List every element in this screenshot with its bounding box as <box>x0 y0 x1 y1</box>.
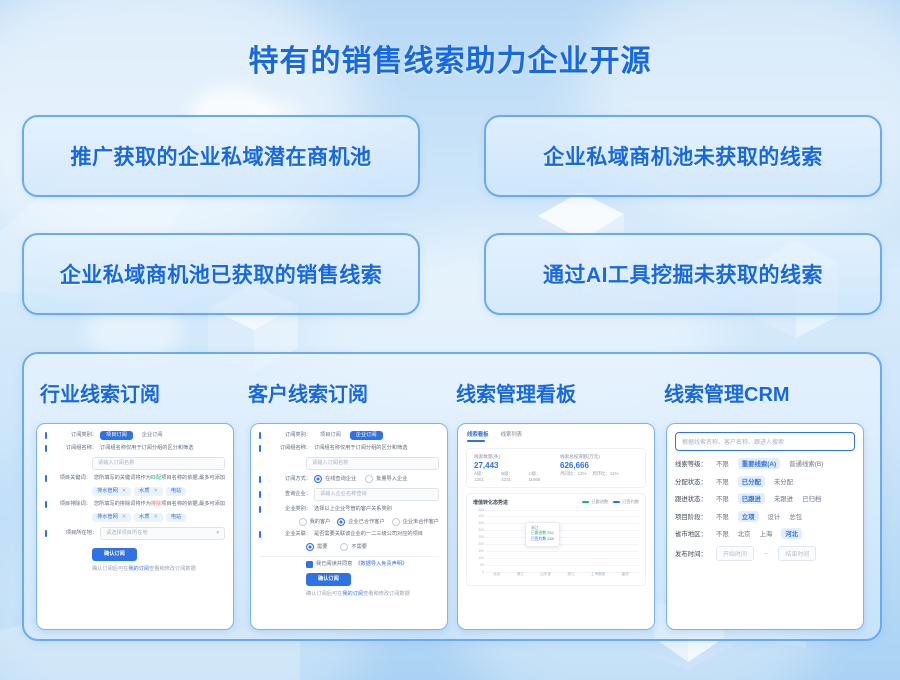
crm-filter-row: 线索等级：不限重要线索(A)普通线索(B) <box>675 458 855 469</box>
keyword-row: 项目关键词： 您所填写的关键词将作为匹配项目名称的依据,最多可添加 <box>45 475 225 482</box>
filter-option[interactable]: 不限 <box>716 512 729 521</box>
crm-filter-row: 分配状态：不限已分配未分配 <box>675 476 855 487</box>
kpi-investment: 线索总投资额(万元) 626,666 月同比：13% 周环比：11% <box>560 454 638 482</box>
feature-pill-1[interactable]: 推广获取的企业私域潜在商机池 <box>22 115 420 197</box>
x-tick-label: 浙江 <box>567 572 574 577</box>
disclaimer-link[interactable]: 《数据导入免责声明》 <box>355 561 407 568</box>
field-marker-icon <box>45 432 47 439</box>
y-tick-label: 100 <box>478 556 484 560</box>
x-tick-label: 浙江 <box>517 572 524 577</box>
chart-tooltip: 浙江 已跟进数 252 已签约数 228 <box>525 522 560 547</box>
filter-option[interactable]: 总包 <box>789 512 802 521</box>
type-option-company[interactable]: 企业订阅 <box>350 431 383 440</box>
field-hint: 是否需要关联该企业的一二三级公司对应的项目 <box>314 531 423 538</box>
filter-option[interactable]: 未跟进 <box>774 494 793 503</box>
feature-pill-4[interactable]: 通过AI工具挖掘未获取的线索 <box>484 233 882 315</box>
divider <box>259 556 439 557</box>
filter-option[interactable]: 已归档 <box>802 494 821 503</box>
group-name-input[interactable]: 请输入订阅名称 <box>306 457 439 470</box>
filter-option[interactable]: 设计 <box>768 512 781 521</box>
date-separator: － <box>763 549 769 558</box>
section-title-crm: 线索管理CRM <box>664 378 790 407</box>
x-axis: 北京浙江山东省浙江上海集团重庆 <box>485 572 637 582</box>
chart-legend: 已跟进数 已签约数 <box>582 499 639 505</box>
field-marker-icon <box>259 506 261 513</box>
tab-list[interactable]: 线索列表 <box>501 430 523 438</box>
field-marker-icon <box>259 491 261 498</box>
type-option-company[interactable]: 企业订阅 <box>136 431 169 440</box>
filter-label: 线索等级： <box>675 459 707 468</box>
screenshot-card-dashboard[interactable]: 线索看板 线索列表 线索数量(条) 27,443 A级：1201 B级：4231… <box>457 423 655 630</box>
field-marker-icon <box>259 432 261 439</box>
kpi-subs: A级：1201 B级：4231 C级：11666 <box>474 471 552 482</box>
field-marker-icon <box>259 476 261 483</box>
field-label: 查询企业： <box>267 491 311 498</box>
y-tick-label: 300 <box>478 528 484 532</box>
footer-note-row: 确认订阅后可在我的订阅查看和修改订阅数据 <box>45 566 225 573</box>
footer-note: 确认订阅后可在我的订阅查看和修改订阅数据 <box>306 591 410 598</box>
type-option-project[interactable]: 项目订阅 <box>314 431 347 440</box>
my-subscription-link[interactable]: 我的订阅 <box>128 566 149 572</box>
filter-label: 省市地区： <box>675 529 707 538</box>
my-subscription-link[interactable]: 我的订阅 <box>342 591 363 597</box>
exclude-row: 项目排除词： 您所填写的排除词将作为排除项目名称的依据,最多可添加 <box>45 501 225 508</box>
legend-item: 已签约数 <box>613 499 639 505</box>
filter-option[interactable]: 未分配 <box>774 477 793 486</box>
radio-partnered[interactable] <box>337 518 345 526</box>
agreement-row[interactable]: 我已阅读并同意 《数据导入免责声明》 <box>259 561 439 568</box>
keyword-tag[interactable]: 电站 <box>166 487 186 496</box>
y-tick-label: 400 <box>478 514 484 518</box>
y-tick-label: 200 <box>478 542 484 546</box>
field-marker-icon <box>45 530 47 537</box>
exclude-tag[interactable]: 水质✕ <box>134 513 163 522</box>
section-title-customer: 客户线索订阅 <box>248 378 368 407</box>
radio-relation-no[interactable] <box>340 543 348 551</box>
poster-stage: 特有的销售线索助力企业开源 推广获取的企业私域潜在商机池 企业私域商机池未获取的… <box>0 0 900 680</box>
type-option-project[interactable]: 项目订阅 <box>100 431 133 440</box>
kpi-lead-count: 线索数量(条) 27,443 A级：1201 B级：4231 C级：11666 <box>474 454 552 482</box>
dashboard-tabs[interactable]: 线索看板 线索列表 <box>458 424 654 438</box>
group-name-input[interactable]: 请输入订阅名称 <box>92 457 225 470</box>
agreement-checkbox[interactable] <box>306 561 313 568</box>
relation-options-row[interactable]: 需要 不需要 <box>259 543 439 551</box>
close-icon[interactable]: ✕ <box>154 488 158 495</box>
y-tick-label: 350 <box>478 521 484 525</box>
field-hint: 选择以上企业号管的客户关系类别 <box>314 506 392 513</box>
y-axis: 050100150200250300350400450 <box>473 510 485 572</box>
exclude-highlight: 排除 <box>151 501 161 507</box>
location-row[interactable]: 项目所在地： 请选择项目所在地 ▾ <box>45 527 225 540</box>
exclude-tags-row[interactable]: 排水管网✕ 水质✕ 电站 <box>45 513 225 522</box>
radio-my-customer[interactable] <box>299 518 307 526</box>
filter-option[interactable]: 普通线索(B) <box>789 459 823 468</box>
y-tick-label: 150 <box>478 549 484 553</box>
feature-pill-3[interactable]: 企业私域商机池已获取的销售线索 <box>22 233 420 315</box>
filter-label: 跟进状态： <box>675 494 707 503</box>
exclude-tag[interactable]: 排水管网✕ <box>92 513 131 522</box>
filter-option[interactable]: 已跟进 <box>738 493 765 504</box>
footer-note: 确认订阅后可在我的订阅查看和修改订阅数据 <box>92 566 196 573</box>
kpi-group: 线索数量(条) 27,443 A级：1201 B级：4231 C级：11666 … <box>466 448 646 488</box>
field-marker-icon <box>259 531 261 538</box>
y-tick-label: 450 <box>478 508 484 512</box>
start-date-input[interactable]: 开始时间 <box>716 546 754 561</box>
y-tick-label: 0 <box>482 570 484 574</box>
end-date-input[interactable]: 结束时间 <box>778 546 816 561</box>
section-title-industry: 行业线索订阅 <box>40 378 160 407</box>
crm-filter-row: 跟进状态：不限已跟进未跟进已归档 <box>675 493 855 504</box>
field-label: 订阅类别： <box>267 432 311 439</box>
publish-date-row[interactable]: 发布时间： 开始时间 － 结束时间 <box>675 546 855 561</box>
field-label: 项目关键词： <box>53 475 91 482</box>
field-label: 订阅组名称： <box>267 445 311 452</box>
filter-option[interactable]: 不限 <box>716 477 729 486</box>
filter-option[interactable]: 河北 <box>781 528 802 539</box>
footer-note-row: 确认订阅后可在我的订阅查看和修改订阅数据 <box>259 591 439 598</box>
field-marker-icon <box>45 501 47 508</box>
field-label: 订阅方式： <box>267 476 311 483</box>
exclude-tag[interactable]: 电站 <box>166 513 186 522</box>
radio-online-query[interactable] <box>314 475 322 483</box>
keyword-tags-row[interactable]: 排水管网✕ 水质✕ 电站 <box>45 487 225 496</box>
feature-pill-label: 企业私域商机池已获取的销售线索 <box>60 259 383 289</box>
screenshot-card-customer[interactable]: 订阅类别： 项目订阅 企业订阅 订阅组名称： 订阅组名称仅用于订阅分组的区分和筛… <box>250 423 448 630</box>
close-icon[interactable]: ✕ <box>122 514 126 521</box>
filter-label: 分配状态： <box>675 477 707 486</box>
crm-filter-list: 线索等级：不限重要线索(A)普通线索(B)分配状态：不限已分配未分配跟进状态：不… <box>675 458 855 539</box>
company-query-input[interactable]: 请输入企业名称查询 <box>314 488 439 501</box>
feature-pill-label: 企业私域商机池未获取的线索 <box>543 141 823 171</box>
search-input[interactable]: 根据线索名称、客户名称、跟进人搜索 <box>675 432 855 451</box>
filter-option[interactable]: 不限 <box>716 529 729 538</box>
x-tick-label: 重庆 <box>622 572 629 577</box>
kpi-subs: 月同比：13% 周环比：11% <box>560 471 638 477</box>
lead-trend-chart: 增值转化态势进 已跟进数 已签约数 0501001502002503003504… <box>466 493 646 586</box>
field-label: 企业关联： <box>267 531 311 538</box>
tooltip-row: 已签约数 228 <box>531 537 554 543</box>
field-hint: 订阅组名称仅用于订阅分组的区分和筛选 <box>314 445 407 452</box>
kpi-value: 27,443 <box>474 461 552 470</box>
filter-label: 项目阶段： <box>675 512 707 521</box>
x-tick-label: 北京 <box>493 572 500 577</box>
field-label: 订阅类别： <box>53 432 97 439</box>
scope-row: 企业类别： 选择以上企业号管的客户关系类别 <box>259 506 439 513</box>
chart-plot-area: 050100150200250300350400450 北京浙江山东省浙江上海集… <box>473 510 639 582</box>
filter-option[interactable]: 北京 <box>738 529 751 538</box>
filter-option[interactable]: 重要线索(A) <box>738 458 780 469</box>
feature-pill-label: 推广获取的企业私域潜在商机池 <box>71 141 372 171</box>
group-name-row: 订阅组名称： 订阅组名称仅用于订阅分组的区分和筛选 <box>45 445 225 452</box>
field-label: 订阅组名称： <box>53 445 97 452</box>
filter-option[interactable]: 上海 <box>760 529 773 538</box>
chevron-down-icon: ▾ <box>216 530 219 537</box>
field-label: 项目所在地： <box>53 530 97 537</box>
scope-options-row[interactable]: 我的客户 企业已合作客户 企业未合作客户 <box>259 518 439 526</box>
field-marker-icon <box>259 445 261 452</box>
group-name-row: 订阅组名称： 订阅组名称仅用于订阅分组的区分和筛选 <box>259 445 439 452</box>
confirm-subscribe-button[interactable]: 确认订阅 <box>306 573 351 586</box>
filter-option[interactable]: 已分配 <box>738 476 765 487</box>
filter-label: 发布时间： <box>675 549 707 558</box>
field-label: 企业类别： <box>267 506 311 513</box>
company-query-row[interactable]: 查询企业： 请输入企业名称查询 <box>259 488 439 501</box>
kpi-value: 626,666 <box>560 461 638 470</box>
field-marker-icon <box>45 475 47 482</box>
mode-row[interactable]: 订阅方式： 在线查询企业 批量导入企业 <box>259 475 439 483</box>
kpi-label: 线索总投资额(万元) <box>560 454 638 460</box>
keyword-tag[interactable]: 排水管网✕ <box>92 487 131 496</box>
screenshot-card-crm[interactable]: 根据线索名称、客户名称、跟进人搜索 线索等级：不限重要线索(A)普通线索(B)分… <box>666 423 864 630</box>
screenshot-card-industry[interactable]: 订阅类别： 项目订阅 企业订阅 订阅组名称： 订阅组名称仅用于订阅分组的区分和筛… <box>36 423 234 630</box>
radio-not-partnered[interactable] <box>392 518 400 526</box>
group-name-input-row[interactable]: 请输入订阅名称 <box>259 457 439 470</box>
keyword-tag[interactable]: 水质✕ <box>134 487 163 496</box>
feature-pill-2[interactable]: 企业私域商机池未获取的线索 <box>484 115 882 197</box>
close-icon[interactable]: ✕ <box>122 488 126 495</box>
filter-option[interactable]: 不限 <box>716 459 729 468</box>
section-title-dashboard: 线索管理看板 <box>456 378 576 407</box>
confirm-subscribe-button[interactable]: 确认订阅 <box>92 548 137 561</box>
field-hint: 订阅组名称仅用于订阅分组的区分和筛选 <box>100 445 193 452</box>
chart-title: 增值转化态势进 <box>473 499 508 506</box>
subscription-type-row[interactable]: 订阅类别： 项目订阅 企业订阅 <box>259 431 439 440</box>
keyword-highlight: 匹配 <box>151 475 161 481</box>
radio-relation-yes[interactable] <box>306 543 314 551</box>
chart-bars <box>485 510 637 572</box>
field-marker-icon <box>45 445 47 452</box>
filter-option[interactable]: 立项 <box>738 511 759 522</box>
submit-row[interactable]: 确认订阅 <box>259 573 439 586</box>
tab-underline <box>467 440 485 442</box>
crm-filter-row: 项目阶段：不限立项设计总包 <box>675 511 855 522</box>
x-tick-label: 上海集团 <box>591 572 605 577</box>
legend-item: 已跟进数 <box>582 499 608 505</box>
y-tick-label: 50 <box>480 563 484 567</box>
page-title: 特有的销售线索助力企业开源 <box>0 36 900 80</box>
field-label: 项目排除词： <box>53 501 91 508</box>
tab-board[interactable]: 线索看板 <box>467 430 489 438</box>
feature-pill-label: 通过AI工具挖掘未获取的线索 <box>543 259 823 289</box>
group-name-input-row[interactable]: 请输入订阅名称 <box>45 457 225 470</box>
kpi-label: 线索数量(条) <box>474 454 552 460</box>
crm-filter-row: 省市地区：不限北京上海河北 <box>675 528 855 539</box>
radio-batch-import[interactable] <box>365 475 373 483</box>
location-select[interactable]: 请选择项目所在地 ▾ <box>100 527 225 540</box>
relation-row: 企业关联： 是否需要关联该企业的一二三级公司对应的项目 <box>259 531 439 538</box>
close-icon[interactable]: ✕ <box>154 514 158 521</box>
y-tick-label: 250 <box>478 535 484 539</box>
submit-row[interactable]: 确认订阅 <box>45 548 225 561</box>
x-tick-label: 山东省 <box>540 572 551 577</box>
subscription-type-row[interactable]: 订阅类别： 项目订阅 企业订阅 <box>45 431 225 440</box>
filter-option[interactable]: 不限 <box>716 494 729 503</box>
